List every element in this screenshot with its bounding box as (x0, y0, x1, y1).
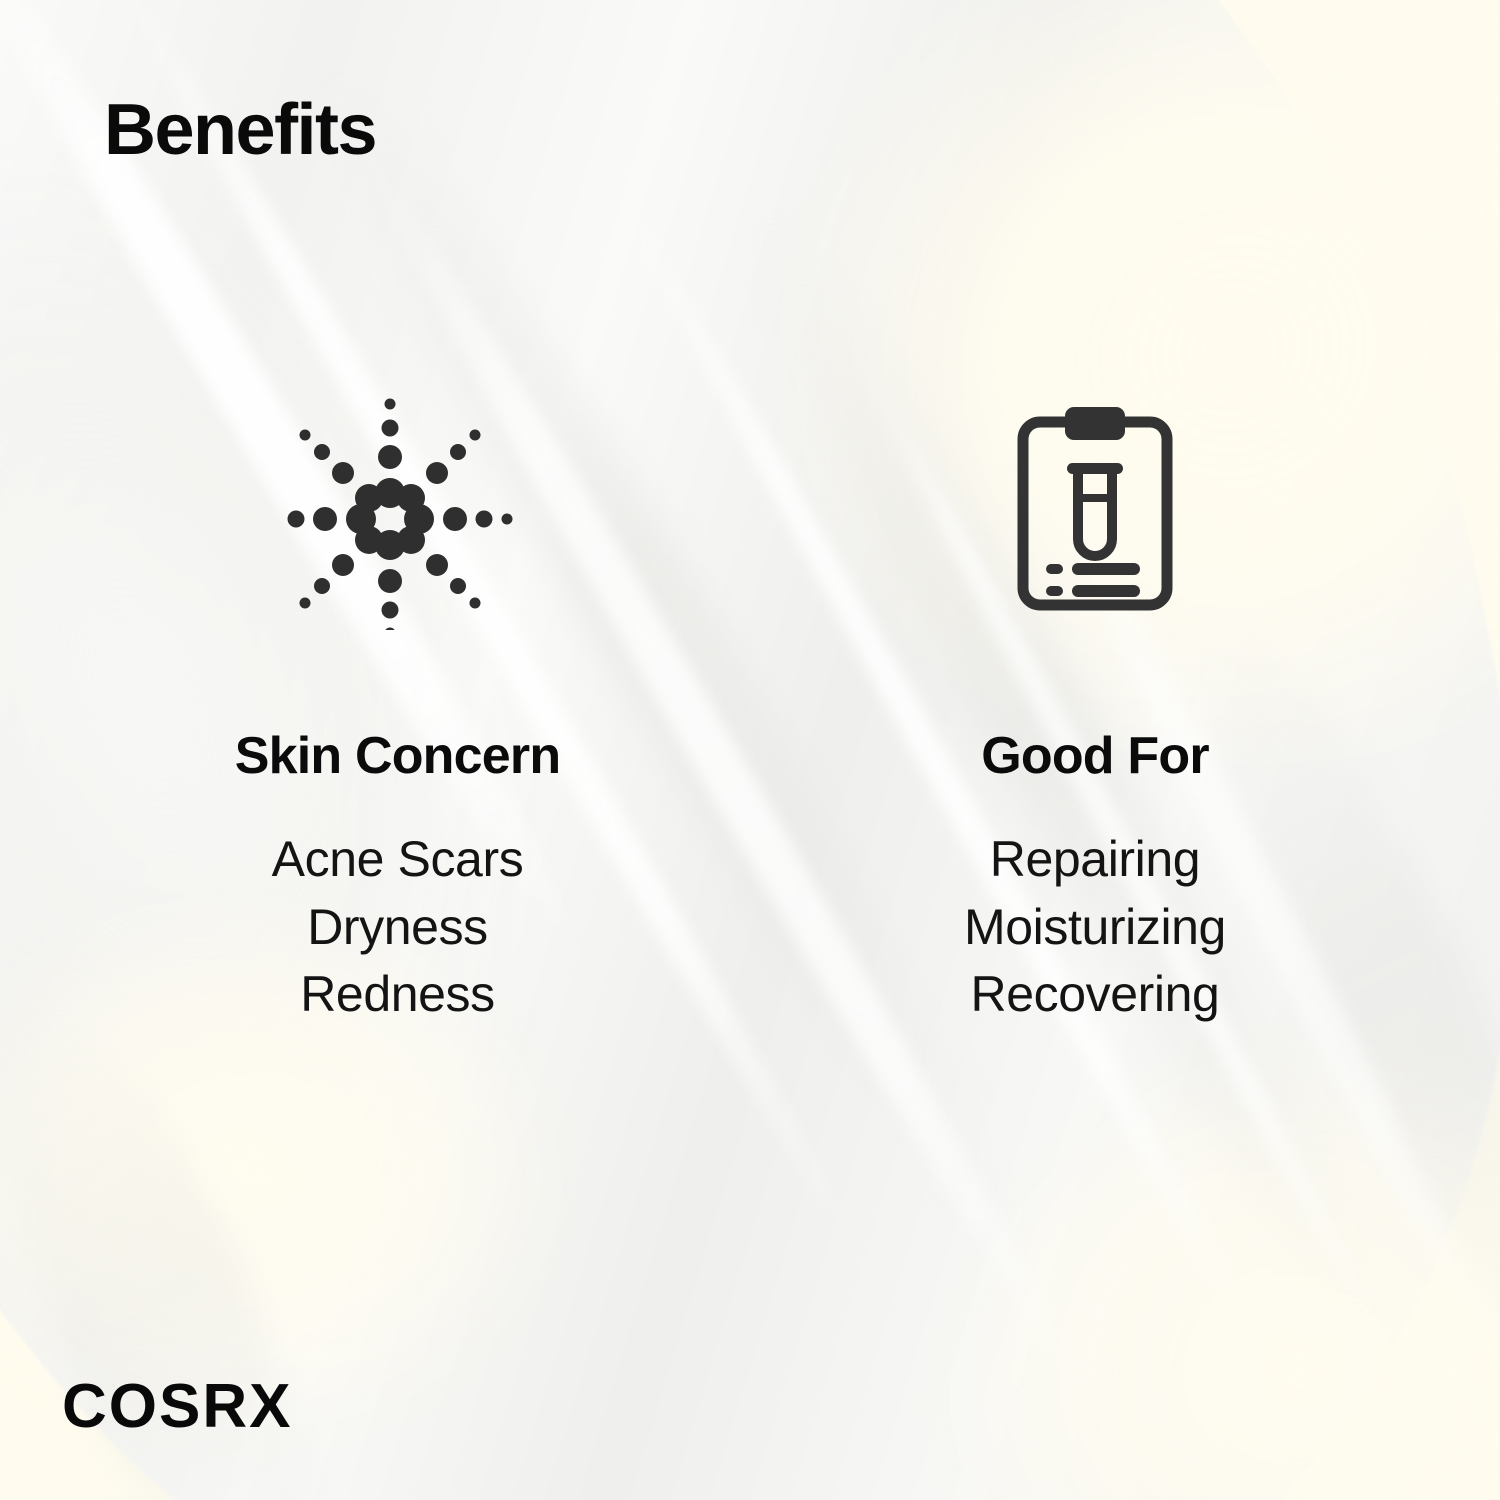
benefit-column-good-for: Good For Repairing Moisturizing Recoveri… (795, 385, 1395, 1029)
list-item: Repairing (964, 826, 1226, 894)
list-item: Recovering (964, 961, 1226, 1029)
list-item: Moisturizing (964, 894, 1226, 962)
benefit-list: Acne Scars Dryness Redness (272, 826, 524, 1029)
list-item: Redness (272, 961, 524, 1029)
benefit-column-skin-concern: Skin Concern Acne Scars Dryness Redness (0, 385, 795, 1029)
benefits-infographic: Benefits (0, 0, 1500, 1500)
benefit-column-title: Skin Concern (235, 730, 561, 782)
list-item: Acne Scars (272, 826, 524, 894)
brand-logo: COSRX (62, 1376, 292, 1438)
benefit-list: Repairing Moisturizing Recovering (964, 826, 1226, 1029)
clipboard-test-tube-icon (1010, 385, 1180, 635)
list-item: Dryness (272, 894, 524, 962)
benefits-columns: Skin Concern Acne Scars Dryness Redness (0, 385, 1500, 1029)
page-title: Benefits (104, 94, 376, 166)
starburst-dots-icon (283, 385, 513, 635)
benefit-column-title: Good For (981, 730, 1209, 782)
